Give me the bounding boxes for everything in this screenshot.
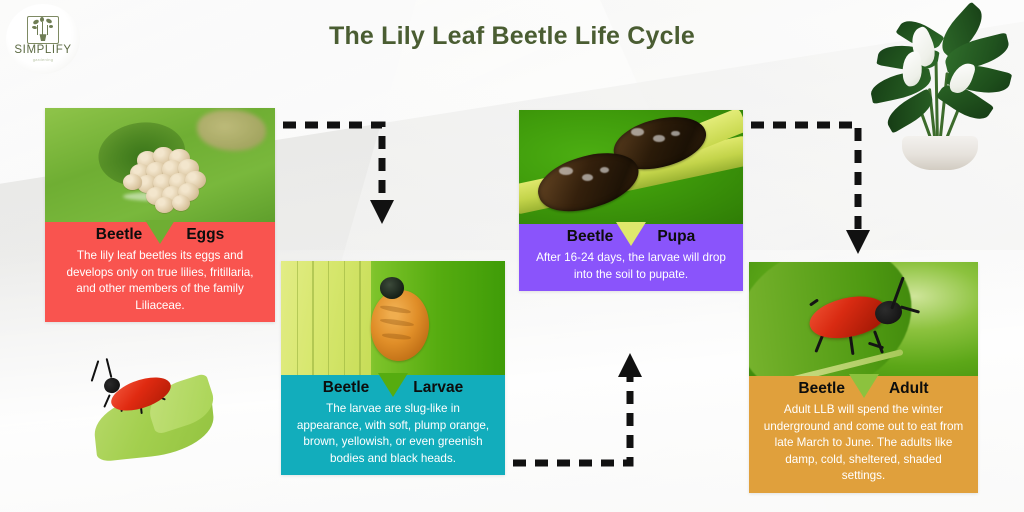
stage-card-eggs[interactable]: Beetle Eggs The lily leaf beetles its eg… [45, 108, 275, 322]
arrow-larvae-to-pupa [510, 345, 650, 473]
adult-heading-right: Adult [889, 381, 929, 397]
peace-lily-plant-decoration [856, 4, 1024, 174]
adult-photo [749, 262, 978, 376]
eggs-description: The lily leaf beetles its eggs and devel… [54, 248, 266, 314]
larvae-heading-right: Larvae [413, 380, 463, 396]
pupa-description: After 16-24 days, the larvae will drop i… [528, 250, 734, 283]
arrow-eggs-to-larvae [280, 118, 410, 228]
eggs-heading-right: Eggs [186, 227, 224, 243]
adult-heading: Beetle Adult [758, 375, 969, 402]
heading-notch-icon [616, 222, 646, 246]
heading-notch-icon [378, 373, 408, 397]
adult-heading-left: Beetle [798, 381, 845, 397]
logo-subtext: gardening [33, 58, 54, 62]
larvae-heading: Beetle Larvae [290, 374, 496, 401]
larvae-photo [281, 261, 505, 375]
pupa-heading-left: Beetle [567, 229, 614, 245]
eggs-heading: Beetle Eggs [54, 221, 266, 248]
eggs-photo [45, 108, 275, 222]
adult-description: Adult LLB will spend the winter undergro… [758, 402, 969, 485]
pupa-photo [519, 110, 743, 224]
larvae-heading-left: Beetle [323, 380, 370, 396]
larvae-description: The larvae are slug-like in appearance, … [290, 401, 496, 467]
heading-notch-icon [145, 220, 175, 244]
pupa-heading-right: Pupa [657, 229, 695, 245]
eggs-heading-left: Beetle [96, 227, 143, 243]
stage-card-larvae[interactable]: Beetle Larvae The larvae are slug-like i… [281, 261, 505, 475]
infographic-canvas: SIMPLIFY gardening The Lily Leaf Beetle … [0, 0, 1024, 512]
heading-notch-icon [849, 374, 879, 398]
pupa-heading: Beetle Pupa [528, 223, 734, 250]
red-beetle-on-leaf-decoration [82, 356, 224, 468]
plant-pot [902, 136, 978, 170]
stage-card-adult[interactable]: Beetle Adult Adult LLB will spend the wi… [749, 262, 978, 493]
stage-card-pupa[interactable]: Beetle Pupa After 16-24 days, the larvae… [519, 110, 743, 291]
